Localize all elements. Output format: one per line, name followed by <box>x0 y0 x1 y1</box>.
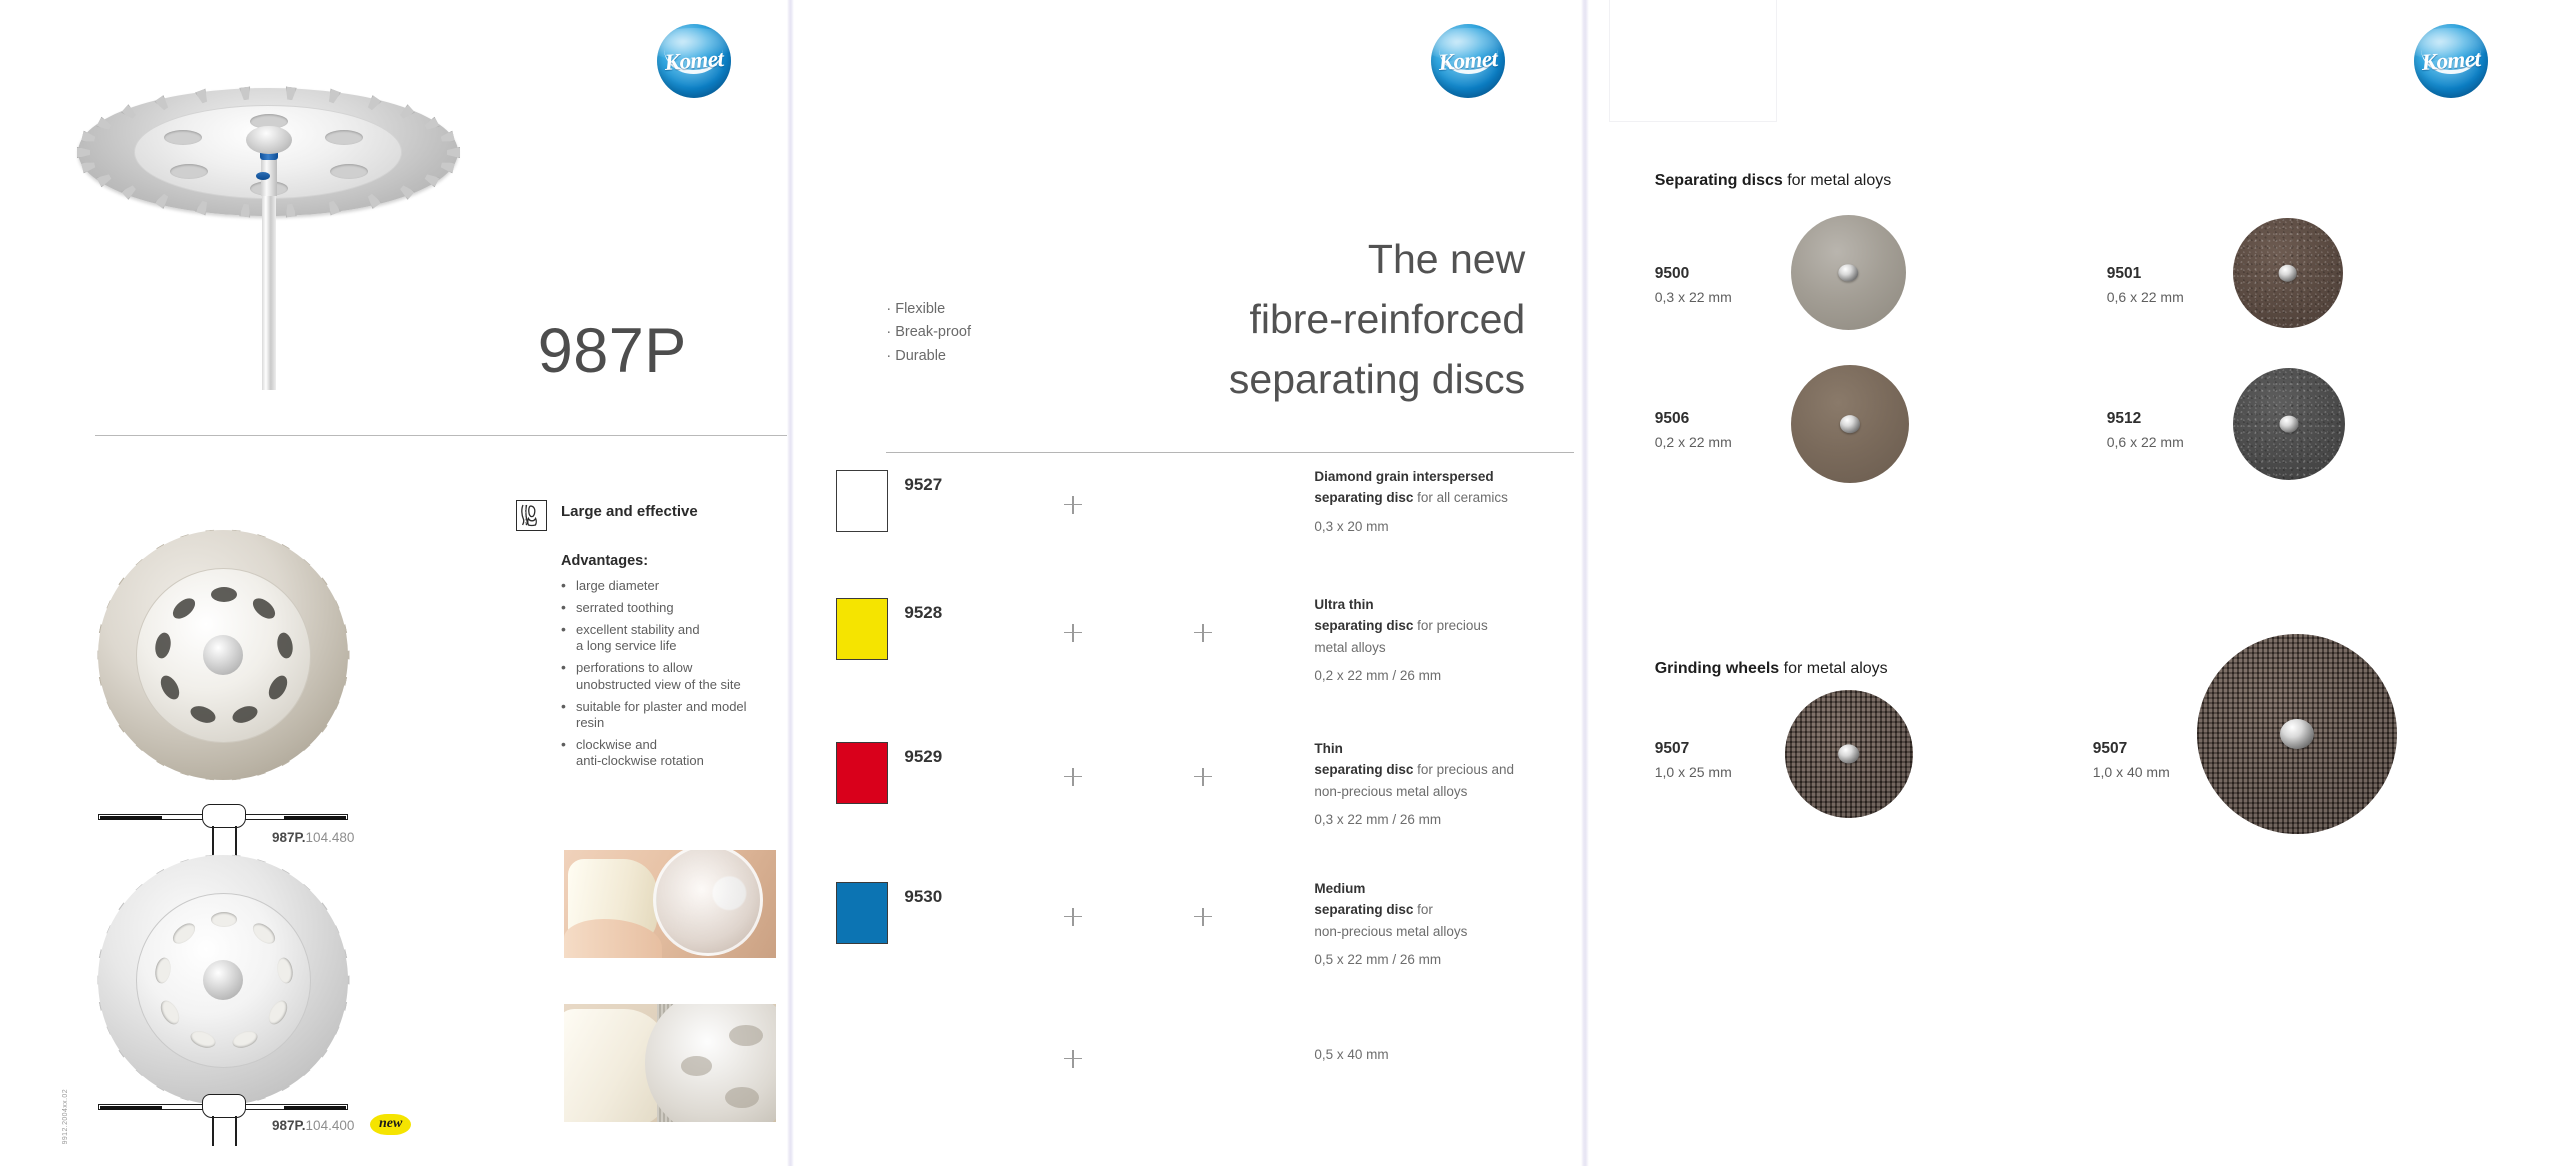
description-type: separating disc <box>1314 618 1413 633</box>
advantage-item: large diameter <box>561 578 787 594</box>
description-headline: Diamond grain interspersed <box>1314 469 1493 484</box>
page-title: 987P <box>538 315 687 387</box>
disc-tooth <box>239 86 251 100</box>
disc-perforation <box>265 672 291 702</box>
description-type: separating disc <box>1314 902 1413 917</box>
colour-code-swatch-blue <box>836 882 888 944</box>
product-dimensions: 0,3 x 22 mm / 26 mm <box>1314 809 1581 830</box>
disc-perforation <box>211 587 237 602</box>
feature-bullet: · Durable <box>886 345 971 368</box>
disc-perforation <box>169 594 199 622</box>
disc-perforation <box>157 997 183 1027</box>
disc-tooth <box>195 199 210 215</box>
disc-hub <box>203 960 243 1000</box>
application-photo-1 <box>564 850 776 958</box>
logo-wordmark: Komet <box>1431 24 1505 98</box>
disc-tooth <box>96 117 113 133</box>
disc-tooth <box>155 95 171 112</box>
product-number: 9530 <box>904 887 942 907</box>
product-description: Diamond grain interspersedseparating dis… <box>1314 466 1581 537</box>
komet-logo: Komet <box>657 24 731 98</box>
availability-plus-icon <box>1064 496 1082 514</box>
komet-logo: Komet <box>1431 24 1505 98</box>
disc-tooth <box>81 159 96 173</box>
feature-bullet: · Flexible <box>886 298 971 321</box>
decorative-frame <box>1609 0 1777 122</box>
availability-plus-icon <box>1064 624 1082 642</box>
disc-tooth <box>326 89 341 105</box>
section-heading-grinding-wheels: Grinding wheels for metal aloys <box>1655 660 1888 678</box>
product-image-987p-104-480 <box>98 530 348 780</box>
description-type: separating disc <box>1314 762 1413 777</box>
feature-bullets: · Flexible · Break-proof · Durable <box>886 298 971 368</box>
product-dimensions: 1,0 x 40 mm <box>2093 764 2170 780</box>
page-divider-2 <box>1581 0 1589 1166</box>
disc-centre-boss <box>2280 719 2314 749</box>
availability-plus-icon <box>1064 768 1082 786</box>
availability-plus-icon <box>1194 768 1212 786</box>
disc-centre-boss <box>1840 415 1860 433</box>
disc-perforation <box>157 672 183 702</box>
disc-perforation <box>188 703 218 726</box>
new-badge: new <box>370 1114 411 1135</box>
feature-bullet: · Break-proof <box>886 321 971 344</box>
disc-perforation <box>153 956 172 984</box>
disc-centre-boss <box>2279 416 2298 433</box>
availability-plus-icon <box>1194 908 1212 926</box>
application-photo-2 <box>564 1004 776 1122</box>
disc-perforation <box>275 631 294 659</box>
benefit-headline: Large and effective <box>561 503 698 520</box>
colour-code-swatch-red <box>836 742 888 804</box>
description-headline: Medium <box>1314 881 1365 896</box>
title-divider <box>95 435 787 436</box>
advantage-item: excellent stability anda long service li… <box>561 622 787 654</box>
availability-plus-icon <box>1064 1050 1082 1068</box>
disc-perforation <box>325 130 363 145</box>
disc-perforation <box>265 997 291 1027</box>
disc-perforation <box>249 919 279 947</box>
disc-perforation <box>275 956 294 984</box>
product-disc-image-9507 <box>2197 634 2397 834</box>
product-description: Thinseparating disc for precious andnon-… <box>1314 738 1581 830</box>
availability-plus-icon <box>1194 624 1212 642</box>
disc-hub-screw <box>256 172 270 180</box>
disc-centre-boss <box>1838 264 1858 281</box>
title-divider <box>886 452 1574 453</box>
advantage-item: perforations to allowunobstructed view o… <box>561 660 787 692</box>
availability-plus-icon <box>1064 908 1082 926</box>
product-dimensions: 0,6 x 22 mm <box>2107 434 2184 450</box>
product-dimensions: 0,2 x 22 mm / 26 mm <box>1314 665 1581 686</box>
product-disc-image-9506 <box>1791 365 1909 483</box>
hero-product-image-987p <box>78 88 458 318</box>
disc-perforation <box>164 130 202 145</box>
disc-tooth <box>447 147 460 158</box>
product-dimensions: 0,3 x 22 mm <box>1655 289 1732 305</box>
advantage-item: clockwise andanti-clockwise rotation <box>561 737 787 769</box>
schematic-side-view-480 <box>98 800 348 834</box>
disc-tooth <box>284 86 296 100</box>
disc-centre-boss <box>1838 744 1860 763</box>
disc-tooth <box>398 183 415 200</box>
disc-tooth <box>239 203 251 217</box>
colour-code-swatch-white <box>836 470 888 532</box>
product-code-400: 987P.104.400 <box>272 1118 354 1133</box>
disc-perforation <box>170 164 208 179</box>
advantages-heading: Advantages: <box>561 553 648 569</box>
disc-tooth <box>326 199 341 215</box>
product-dimensions: 0,5 x 22 mm / 26 mm <box>1314 949 1581 970</box>
title-line-3: separating discs <box>1229 350 1525 410</box>
title-line-1: The new <box>1229 230 1525 290</box>
product-disc-image-9507 <box>1785 690 1913 818</box>
disc-tooth <box>81 131 96 145</box>
tooth-cross-section-icon <box>516 500 547 531</box>
page-987p: Komet 987P Large and effective <box>0 0 787 1166</box>
disc-tooth <box>284 203 296 217</box>
disc-perforation <box>153 631 172 659</box>
disc-tooth <box>96 172 113 188</box>
disc-perforation <box>169 919 199 947</box>
product-description: Ultra thinseparating disc for preciousme… <box>1314 594 1581 686</box>
disc-perforation <box>330 164 368 179</box>
disc-perforation <box>188 1028 218 1051</box>
product-number: 9500 <box>1655 265 1689 283</box>
disc-tooth <box>365 192 381 209</box>
page-fibre-reinforced: Komet The new fibre-reinforced separatin… <box>794 0 1581 1166</box>
disc-centre-boss <box>2278 265 2297 282</box>
product-dimensions: 0,6 x 22 mm <box>2107 289 2184 305</box>
product-image-987p-104-400 <box>98 855 348 1105</box>
description-headline: Thin <box>1314 741 1343 756</box>
disc-tooth <box>365 95 381 112</box>
product-code-480: 987P.104.480 <box>272 830 354 845</box>
description-headline: Ultra thin <box>1314 597 1373 612</box>
disc-tooth <box>77 147 90 158</box>
disc-perforation <box>249 594 279 622</box>
description-type: separating disc <box>1314 490 1413 505</box>
product-number: 9507 <box>2093 740 2127 758</box>
product-number: 9528 <box>904 603 942 623</box>
section-heading-separating-discs: Separating discs for metal aloys <box>1655 172 1892 190</box>
page-title: The new fibre-reinforced separating disc… <box>1229 230 1525 410</box>
disc-hub <box>246 126 292 154</box>
disc-tooth <box>423 172 440 188</box>
advantage-item: serrated toothing <box>561 600 787 616</box>
product-disc-image-9501 <box>2233 218 2343 328</box>
disc-tooth <box>121 183 138 200</box>
logo-wordmark: Komet <box>2414 24 2488 98</box>
product-dimensions: 1,0 x 25 mm <box>1655 764 1732 780</box>
product-dimensions: 0,5 x 40 mm <box>1314 1044 1581 1065</box>
advantages-list: large diameterserrated toothingexcellent… <box>561 578 787 775</box>
product-number: 9506 <box>1655 410 1689 428</box>
product-number: 9507 <box>1655 740 1689 758</box>
disc-perforation <box>230 703 260 726</box>
disc-tooth <box>155 192 171 209</box>
product-number: 9501 <box>2107 265 2141 283</box>
product-description: Mediumseparating disc fornon-precious me… <box>1314 878 1581 970</box>
advantage-item: suitable for plaster and modelresin <box>561 699 787 731</box>
disc-tooth <box>440 131 455 145</box>
product-dimensions: 0,3 x 20 mm <box>1314 516 1581 537</box>
disc-tooth <box>398 104 415 121</box>
title-line-2: fibre-reinforced <box>1229 290 1525 350</box>
product-dimensions: 0,2 x 22 mm <box>1655 434 1732 450</box>
catalogue-spread: Komet 987P Large and effective <box>0 0 2560 1166</box>
disc-hub <box>203 635 243 675</box>
disc-tooth <box>121 104 138 121</box>
disc-tooth <box>423 117 440 133</box>
colour-code-swatch-yellow <box>836 598 888 660</box>
product-number: 9512 <box>2107 410 2141 428</box>
document-reference-code: 9912.2004xx.02 <box>62 1089 69 1144</box>
disc-perforation <box>211 912 237 927</box>
disc-tooth <box>440 159 455 173</box>
product-disc-image-9500 <box>1791 215 1906 330</box>
product-number: 9527 <box>904 475 942 495</box>
page-divider-1 <box>787 0 795 1166</box>
disc-perforation <box>230 1028 260 1051</box>
logo-wordmark: Komet <box>657 24 731 98</box>
product-disc-image-9512 <box>2233 368 2345 480</box>
page-metal-alloys: Komet Separating discs for metal aloys G… <box>1589 0 2560 1166</box>
komet-logo: Komet <box>2414 24 2488 98</box>
disc-tooth <box>195 89 210 105</box>
product-number: 9529 <box>904 747 942 767</box>
